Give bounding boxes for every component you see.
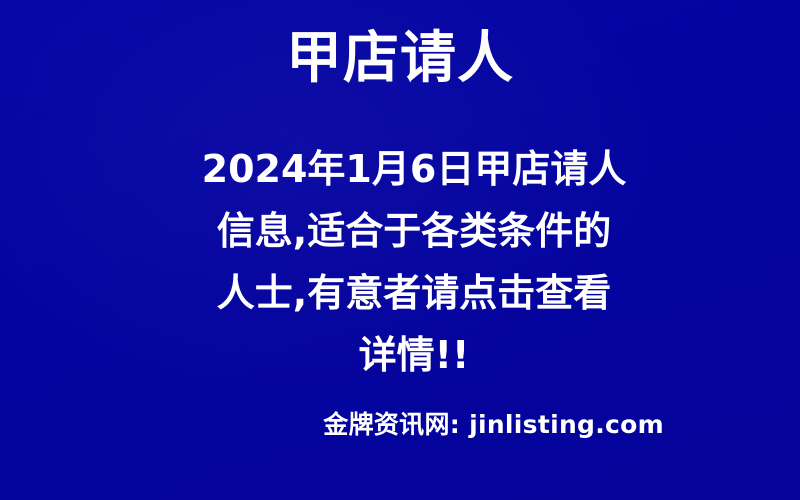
- site-attribution: 金牌资讯网: jinlisting.com: [0, 409, 800, 441]
- body-line-4: 详情!!: [150, 324, 678, 386]
- body-text-block: 2024年1月6日甲店请人 信息,适合于各类条件的 人士,有意者请点击查看 详情…: [150, 138, 678, 386]
- page-title: 甲店请人: [0, 27, 800, 91]
- poster-content: 甲店请人 2024年1月6日甲店请人 信息,适合于各类条件的 人士,有意者请点击…: [0, 0, 800, 500]
- poster-canvas: 甲店请人 2024年1月6日甲店请人 信息,适合于各类条件的 人士,有意者请点击…: [0, 0, 800, 500]
- body-line-2: 信息,适合于各类条件的: [150, 200, 678, 262]
- body-line-1: 2024年1月6日甲店请人: [150, 138, 678, 200]
- body-line-3: 人士,有意者请点击查看: [150, 262, 678, 324]
